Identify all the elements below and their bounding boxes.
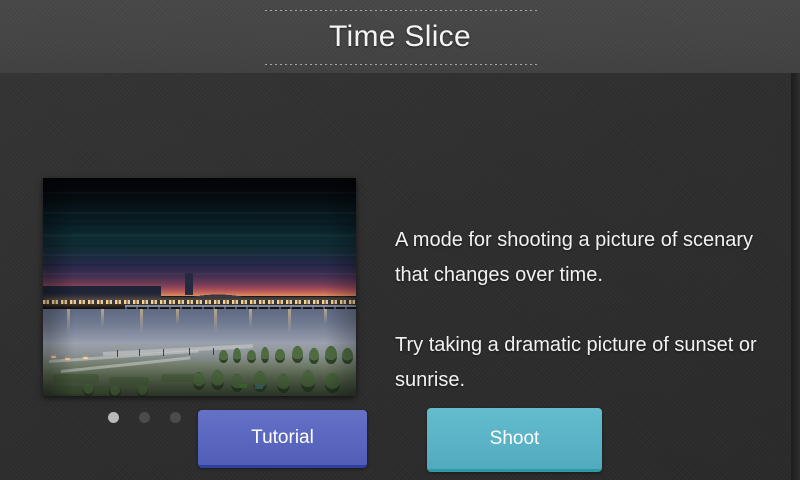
dotted-line-icon-top — [265, 10, 537, 11]
preview-image[interactable] — [43, 178, 356, 396]
mode-description: A mode for shooting a picture of scenary… — [395, 223, 765, 398]
page-title: Time Slice — [0, 20, 800, 54]
shoot-button[interactable]: Shoot — [427, 408, 602, 472]
app-screen: Time Slice — [0, 0, 800, 480]
content-panel: A mode for shooting a picture of scenary… — [0, 73, 791, 480]
description-paragraph-2: Try taking a dramatic picture of sunset … — [395, 328, 765, 398]
page-dot-3[interactable] — [170, 412, 181, 423]
dotted-line-icon-bottom — [265, 64, 537, 65]
header-bar: Time Slice — [0, 0, 800, 73]
panel-right-rail — [791, 73, 800, 480]
tutorial-button[interactable]: Tutorial — [198, 410, 367, 468]
photo-vignette — [43, 178, 356, 396]
description-paragraph-1: A mode for shooting a picture of scenary… — [395, 223, 765, 293]
page-dot-1[interactable] — [108, 412, 119, 423]
page-dot-2[interactable] — [139, 412, 150, 423]
